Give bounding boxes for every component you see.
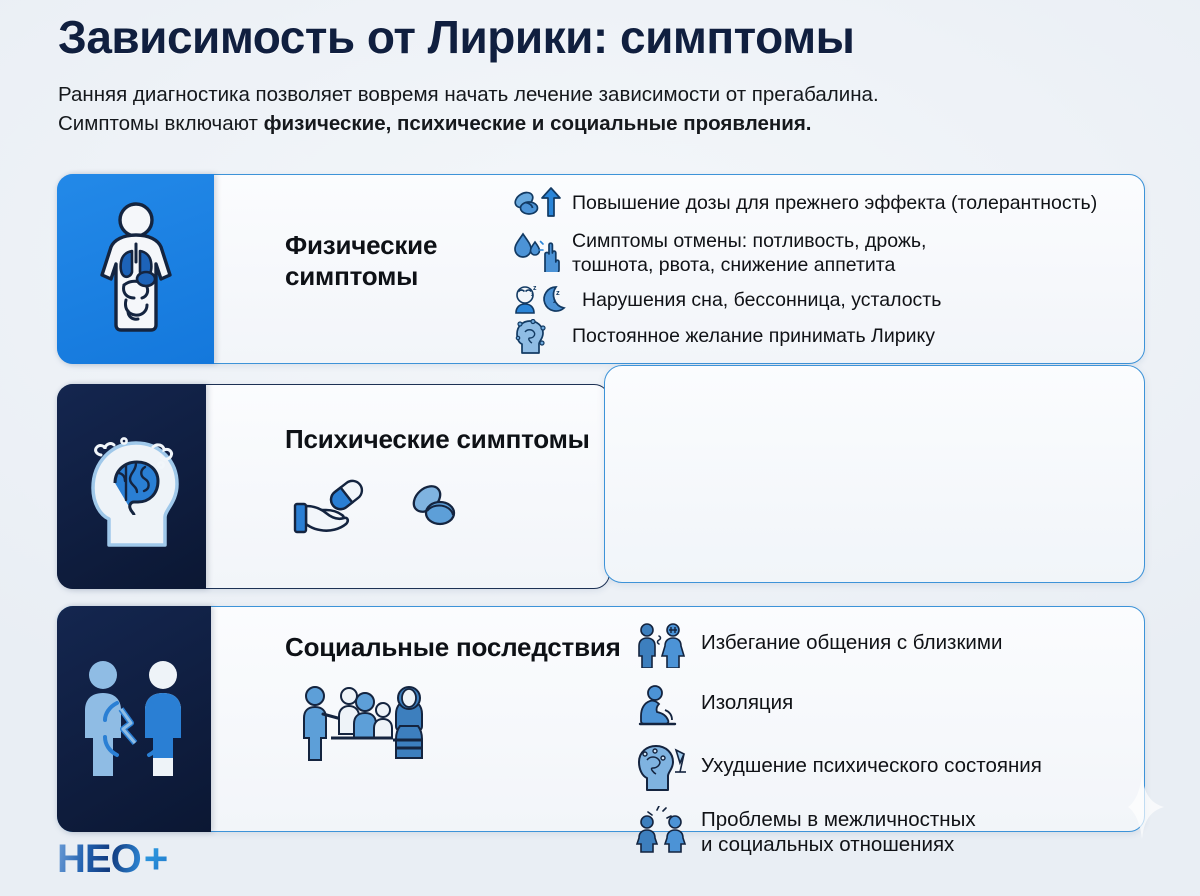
card-mental-list-panel <box>604 365 1145 583</box>
card-mental-icon-panel <box>57 384 206 589</box>
pills-pair-icon <box>402 479 472 542</box>
svg-text:z: z <box>553 299 556 305</box>
brand-logo-plus-icon: + <box>144 835 169 883</box>
card-physical[interactable]: Физические симптомы Повышение дозы для п… <box>57 174 1145 364</box>
card-social-title: Социальные последствия <box>285 632 621 663</box>
infographic-root: Зависимость от Лирики: симптомы Ранняя д… <box>0 0 1200 896</box>
sleepless-face-moon-icon: z z z z <box>512 283 572 317</box>
card-social[interactable]: Социальные последствия <box>57 606 1145 832</box>
list-item[interactable]: Симптомы отмены: потливость, дрожь, тошн… <box>512 228 1200 277</box>
subtitle-line-2: Симптомы включают физические, психически… <box>58 109 1148 138</box>
head-mental-decline-icon <box>635 744 691 792</box>
person-sitting-alone-icon <box>635 684 691 728</box>
list-item-text: Повышение дозы для прежнего эффекта (тол… <box>572 186 1097 215</box>
card-physical-title: Физические симптомы <box>285 230 437 291</box>
human-body-organs-icon <box>88 199 184 339</box>
list-item[interactable]: z z z z Нарушения сна, бессонница, устал… <box>512 283 1200 317</box>
header: Зависимость от Лирики: симптомы Ранняя д… <box>58 12 1148 138</box>
page-title: Зависимость от Лирики: симптомы <box>58 12 1148 64</box>
subtitle-line-2-plain: Симптомы включают <box>58 112 264 135</box>
head-brain-icon <box>79 421 185 553</box>
list-item-text: Ухудшение психического состояния <box>701 744 1042 778</box>
man-woman-avoid-icon <box>635 622 691 668</box>
list-item[interactable]: Проблемы в межличностных и социальных от… <box>635 806 1155 858</box>
card-social-list: Избегание общения с близкими Изоляция <box>635 622 1155 858</box>
two-people-conflict-icon <box>635 806 691 854</box>
list-item[interactable]: Постоянное желание принимать Лирику <box>512 319 1200 355</box>
brand-logo[interactable]: НЕО + <box>57 836 168 882</box>
card-physical-icon-panel <box>57 174 214 364</box>
two-people-broken-bond-icon <box>75 655 193 783</box>
list-item-text: Изоляция <box>701 684 793 715</box>
group-avoidance-scene-icon <box>297 678 457 773</box>
list-item-text: Избегание общения с близкими <box>701 622 1002 655</box>
craving-head-icon <box>512 319 562 355</box>
card-mental[interactable]: Психические симптомы <box>57 384 610 589</box>
hand-holding-capsule-icon <box>292 476 384 545</box>
page-subtitle: Ранняя диагностика позволяет вовремя нач… <box>58 80 1148 138</box>
pills-up-arrow-icon <box>512 186 562 220</box>
sweat-drops-trembling-hand-icon <box>512 228 562 272</box>
svg-text:z: z <box>556 288 560 297</box>
svg-text:z: z <box>531 292 534 298</box>
card-mental-title: Психические симптомы <box>285 424 590 455</box>
brand-logo-text: НЕО <box>57 837 141 882</box>
list-item[interactable]: Повышение дозы для прежнего эффекта (тол… <box>512 186 1200 220</box>
card-social-icon-panel <box>57 606 211 832</box>
subtitle-line-2-bold: физические, психические и социальные про… <box>264 112 812 135</box>
list-item-text: Нарушения сна, бессонница, усталость <box>582 283 941 312</box>
card-physical-list: Повышение дозы для прежнего эффекта (тол… <box>512 186 1200 355</box>
svg-text:z: z <box>533 285 537 292</box>
list-item[interactable]: Изоляция <box>635 684 1155 728</box>
list-item-text: Симптомы отмены: потливость, дрожь, тошн… <box>572 228 926 277</box>
list-item[interactable]: Избегание общения с близкими <box>635 622 1155 668</box>
list-item-text: Постоянное желание принимать Лирику <box>572 319 935 348</box>
subtitle-line-1: Ранняя диагностика позволяет вовремя нач… <box>58 80 1148 109</box>
list-item-text: Проблемы в межличностных и социальных от… <box>701 806 976 858</box>
list-item[interactable]: Ухудшение психического состояния <box>635 744 1155 792</box>
